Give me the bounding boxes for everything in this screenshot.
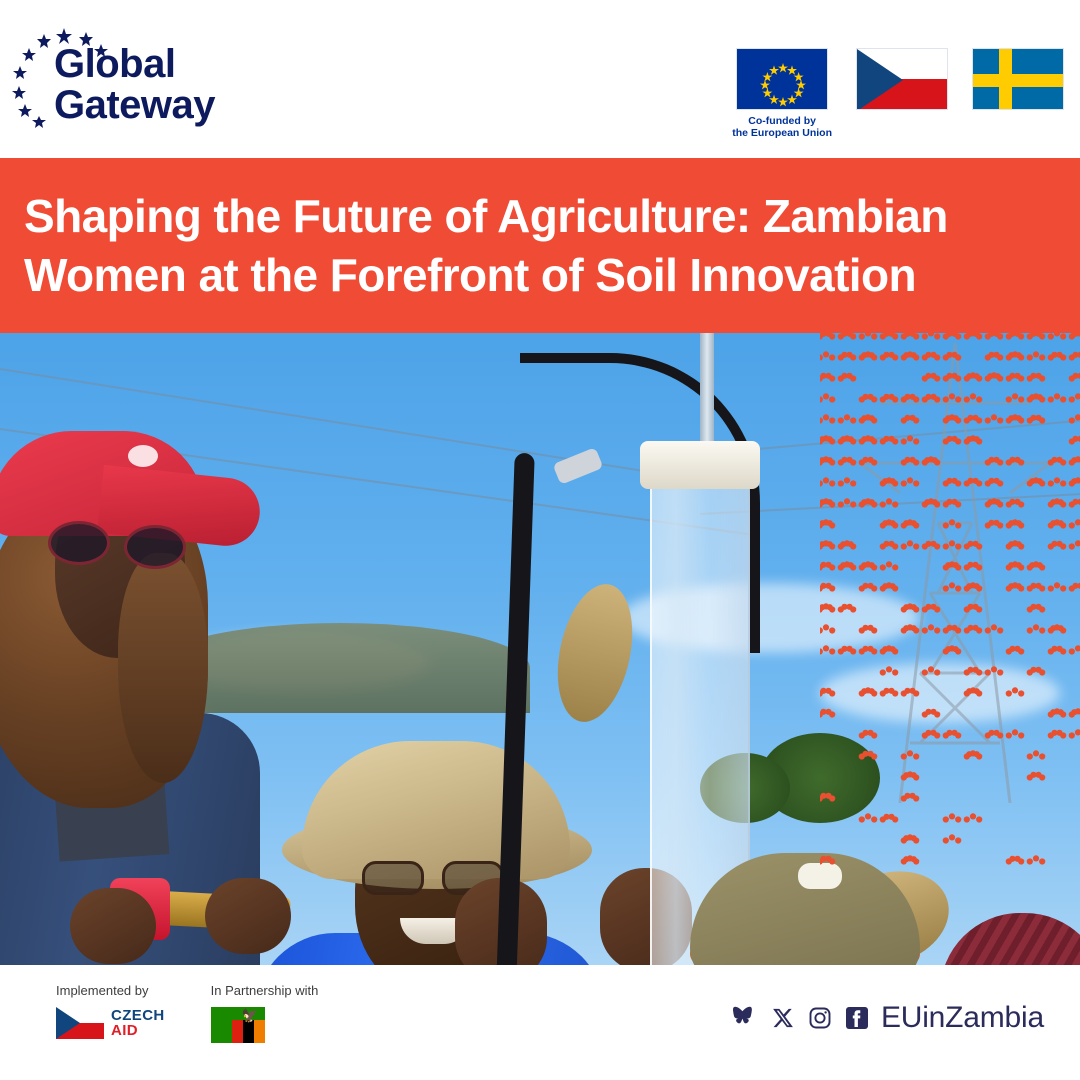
czech-aid-flag-icon — [56, 1007, 104, 1039]
title-banner: Shaping the Future of Agriculture: Zambi… — [0, 158, 1080, 333]
logo-line-2: Gateway — [54, 85, 215, 126]
sweden-flag-block — [972, 48, 1064, 110]
czech-aid-line-1: CZECH — [111, 1008, 165, 1023]
sweden-flag-cross-horizontal — [973, 74, 1063, 87]
zambia-flag-orange-stripe — [254, 1020, 265, 1043]
title-line-2: Women at the Forefront of Soil Innovatio… — [24, 249, 916, 301]
partnership-block: In Partnership with 🦅 — [211, 983, 319, 1043]
facebook-icon[interactable] — [844, 1005, 870, 1031]
czech-aid-wordmark: CZECH AID — [111, 1008, 165, 1038]
eu-caption-line-1: Co-funded by — [732, 115, 832, 127]
czech-flag-block — [856, 48, 948, 110]
maroon-headwrap — [940, 913, 1080, 965]
czech-republic-flag — [856, 48, 948, 110]
sunglass-lens-left — [48, 521, 110, 565]
page-header: Global Gateway — [0, 0, 1080, 158]
sun-hat-crown — [302, 741, 570, 879]
partner-logos: Implemented by CZECH AID In Partnership … — [56, 983, 318, 1043]
zambia-flag-eagle-icon: 🦅 — [242, 1011, 260, 1020]
page-title: Shaping the Future of Agriculture: Zambi… — [24, 187, 1056, 305]
social-media-bar: EUinZambia — [733, 1001, 1044, 1035]
orange-dot-pattern — [820, 333, 1080, 893]
sweden-flag-cross-vertical — [999, 49, 1012, 109]
global-gateway-logo: Global Gateway — [8, 22, 328, 132]
eu-flag-block: Co-funded by the European Union — [732, 48, 832, 139]
czech-aid-logo: CZECH AID — [56, 1007, 165, 1039]
partnership-label: In Partnership with — [211, 983, 319, 998]
global-gateway-wordmark: Global Gateway — [54, 44, 215, 126]
sweden-flag — [972, 48, 1064, 110]
eu-flag — [736, 48, 828, 110]
zambia-flag: 🦅 — [211, 1007, 265, 1043]
hair-strand — [118, 553, 208, 783]
title-line-1: Shaping the Future of Agriculture: Zambi… — [24, 190, 948, 242]
czech-aid-line-2: AID — [111, 1023, 165, 1038]
zambia-flag-red-stripe — [232, 1020, 243, 1043]
zambia-flag-black-stripe — [243, 1020, 254, 1043]
page-footer: Implemented by CZECH AID In Partnership … — [0, 965, 1080, 1080]
sunglass-lens-right — [124, 525, 186, 569]
implemented-by-block: Implemented by CZECH AID — [56, 983, 165, 1043]
cap-logo — [128, 445, 158, 467]
implemented-by-label: Implemented by — [56, 983, 165, 998]
hand — [70, 888, 156, 964]
czech-flag-blue-triangle — [56, 1007, 80, 1039]
hand — [205, 878, 291, 954]
social-handle[interactable]: EUinZambia — [881, 1001, 1044, 1035]
logo-line-1: Global — [54, 44, 215, 85]
sunglasses — [48, 521, 198, 567]
eu-caption-line-2: the European Union — [732, 127, 832, 139]
bluesky-icon[interactable] — [733, 1005, 759, 1031]
instagram-icon[interactable] — [807, 1005, 833, 1031]
eyeglass-lens-left — [362, 861, 424, 895]
donor-flags: Co-funded by the European Union — [732, 48, 1064, 139]
czech-flag-blue-triangle — [857, 49, 903, 110]
hero-photo — [0, 333, 1080, 965]
cylinder-cap — [640, 441, 760, 489]
eu-flag-caption: Co-funded by the European Union — [732, 115, 832, 139]
x-twitter-icon[interactable] — [770, 1005, 796, 1031]
